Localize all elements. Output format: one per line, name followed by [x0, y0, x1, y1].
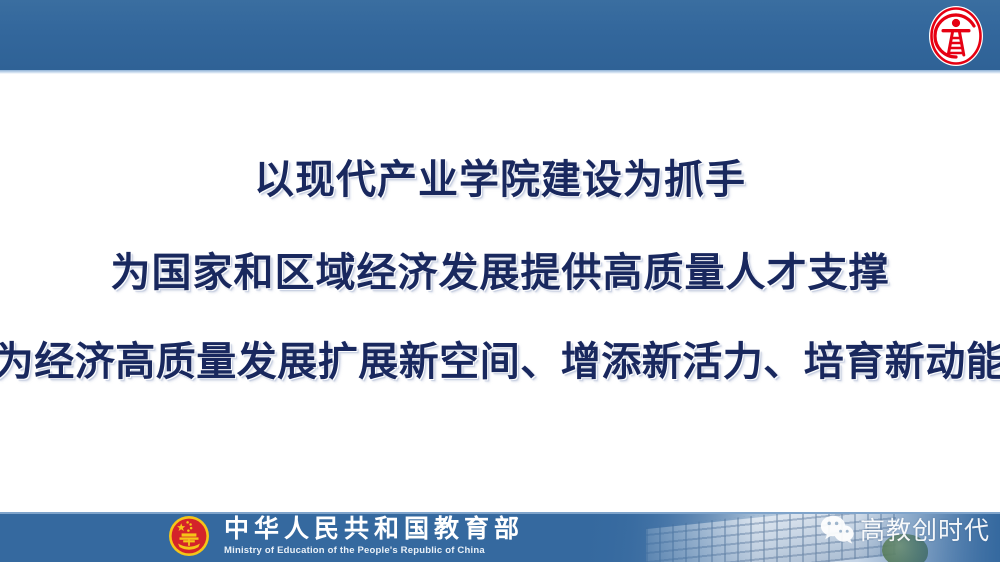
china-national-emblem: [168, 515, 210, 557]
wechat-watermark: 高教创时代: [820, 512, 990, 547]
slide-title-block: 以现代产业学院建设为抓手 为国家和区域经济发展提供高质量人才支撑 为经济高质量发…: [0, 96, 1000, 496]
ministry-name-cn: 中华人民共和国教育部: [224, 516, 524, 543]
title-line-3: 为经济高质量发展扩展新空间、增添新活力、培育新动能: [0, 340, 1000, 385]
title-line-2: 为国家和区域经济发展提供高质量人才支撑: [111, 251, 890, 296]
top-banner: [0, 0, 1000, 70]
wechat-icon: [820, 514, 854, 544]
footer-banner: 中华人民共和国教育部 Ministry of Education of the …: [0, 512, 1000, 562]
presentation-slide: 以现代产业学院建设为抓手 为国家和区域经济发展提供高质量人才支撑 为经济高质量发…: [0, 0, 1000, 562]
ministry-lockup: 中华人民共和国教育部 Ministry of Education of the …: [168, 515, 524, 557]
institution-tower-logo: [925, 5, 987, 67]
ministry-name-en: Ministry of Education of the People's Re…: [224, 545, 524, 556]
wechat-watermark-label: 高教创时代: [860, 512, 990, 547]
title-line-1: 以现代产业学院建设为抓手: [254, 158, 746, 203]
ministry-text: 中华人民共和国教育部 Ministry of Education of the …: [224, 516, 524, 556]
top-banner-underline: [0, 70, 1000, 74]
